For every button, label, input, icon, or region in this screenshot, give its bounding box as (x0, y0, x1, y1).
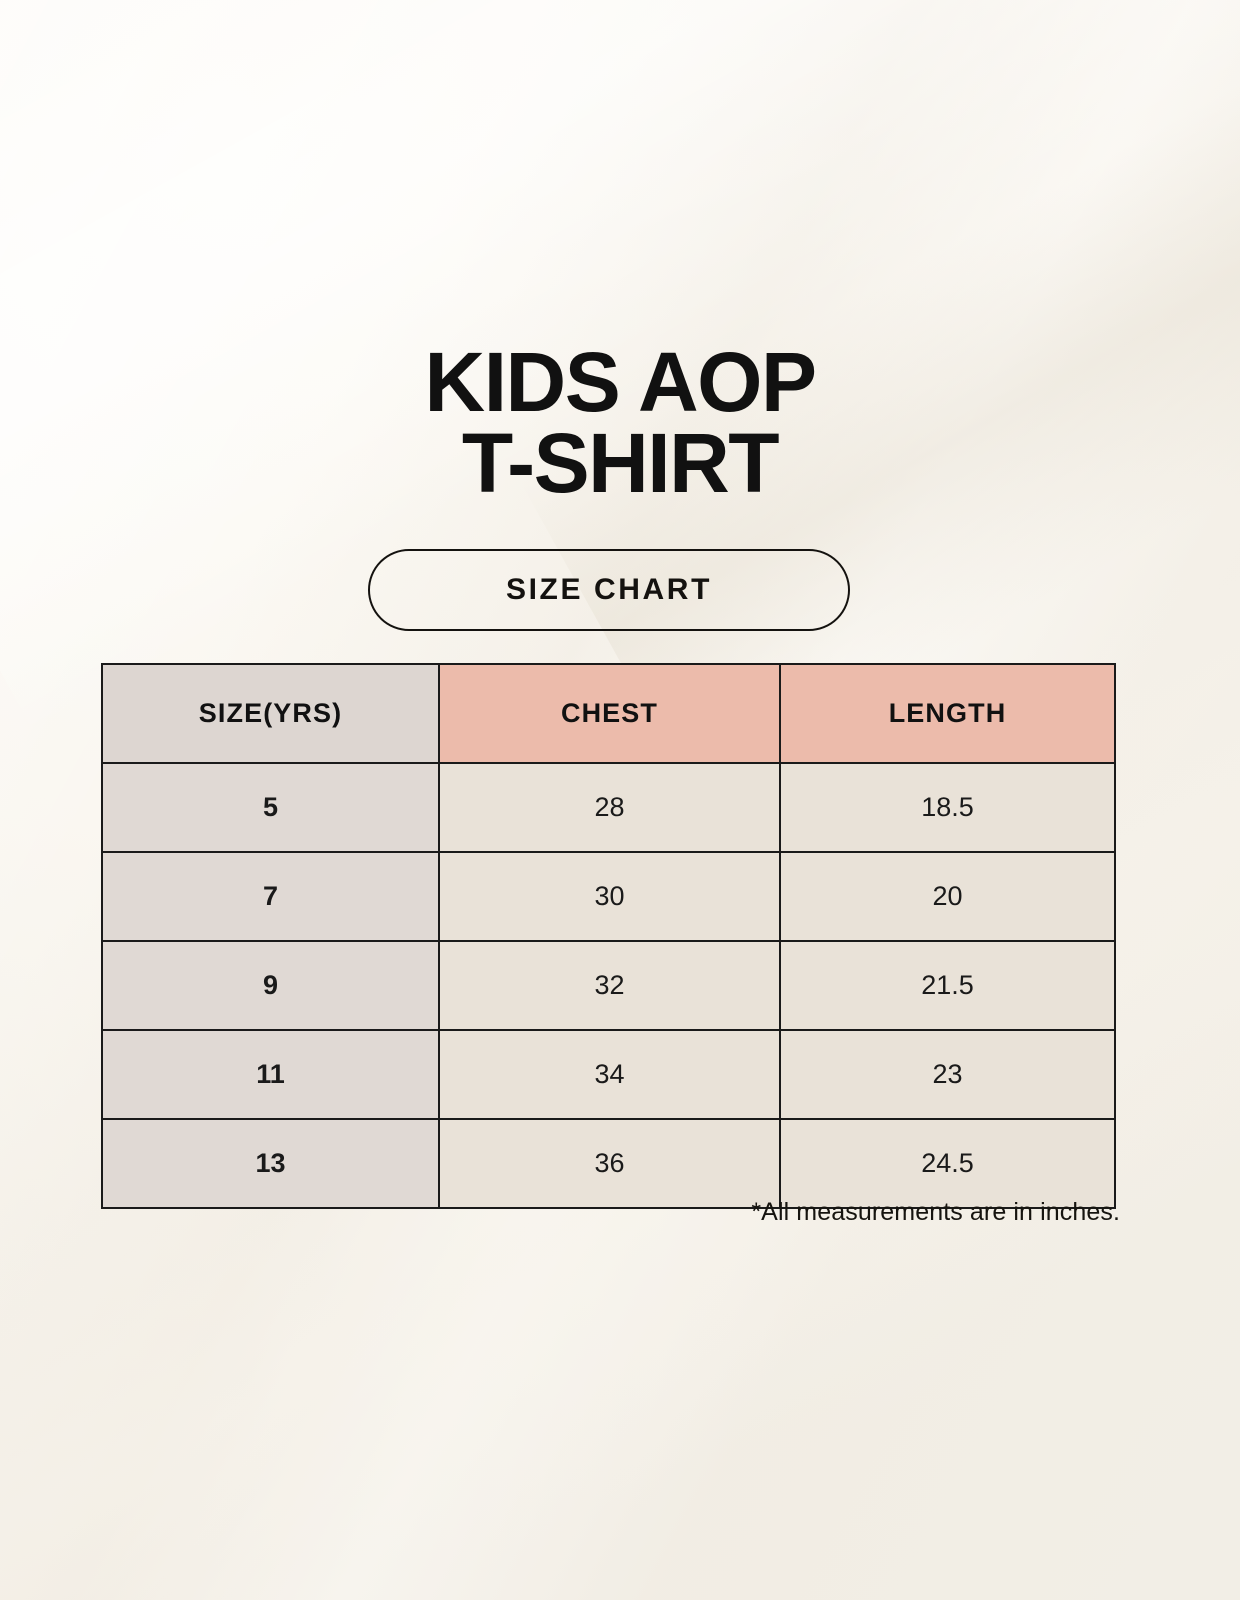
cell-length: 21.5 (780, 941, 1115, 1030)
size-chart-table: SIZE(YRS) CHEST LENGTH 5 28 18.5 7 30 20… (101, 663, 1116, 1209)
table-header-row: SIZE(YRS) CHEST LENGTH (102, 664, 1115, 763)
cell-length: 24.5 (780, 1119, 1115, 1208)
table-row: 13 36 24.5 (102, 1119, 1115, 1208)
cell-length: 18.5 (780, 763, 1115, 852)
column-header-chest: CHEST (439, 664, 780, 763)
cell-length: 20 (780, 852, 1115, 941)
cell-chest: 28 (439, 763, 780, 852)
measurement-footnote: *All measurements are in inches. (0, 1198, 1120, 1227)
cell-length: 23 (780, 1030, 1115, 1119)
table-row: 5 28 18.5 (102, 763, 1115, 852)
cell-size: 7 (102, 852, 439, 941)
table-row: 9 32 21.5 (102, 941, 1115, 1030)
table-row: 11 34 23 (102, 1030, 1115, 1119)
size-chart-page: KIDS AOP T-SHIRT SIZE CHART SIZE(YRS) CH… (0, 0, 1240, 1600)
column-header-size: SIZE(YRS) (102, 664, 439, 763)
cell-size: 5 (102, 763, 439, 852)
cell-chest: 36 (439, 1119, 780, 1208)
cell-chest: 30 (439, 852, 780, 941)
table-row: 7 30 20 (102, 852, 1115, 941)
cell-chest: 32 (439, 941, 780, 1030)
size-chart-badge-label: SIZE CHART (506, 573, 712, 607)
column-header-length: LENGTH (780, 664, 1115, 763)
size-chart-badge: SIZE CHART (368, 549, 850, 631)
cell-size: 11 (102, 1030, 439, 1119)
cell-size: 13 (102, 1119, 439, 1208)
page-title: KIDS AOP T-SHIRT (0, 342, 1240, 505)
cell-chest: 34 (439, 1030, 780, 1119)
cell-size: 9 (102, 941, 439, 1030)
